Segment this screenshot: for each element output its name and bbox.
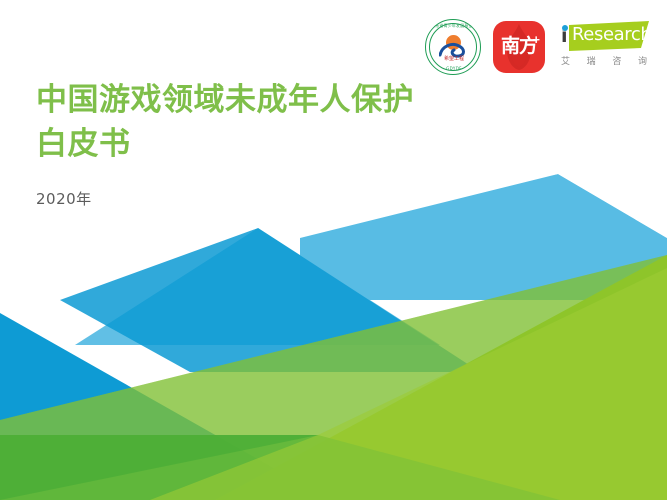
iresearch-cn-char-4: 询	[638, 54, 647, 67]
page-subtitle-year: 2020年	[36, 188, 414, 209]
nanfang-plus-label: +	[532, 33, 540, 46]
iresearch-chinese-name: 艾 瑞 咨 询	[561, 54, 647, 67]
logo-guangdong-youth-foundation: 广东省青少年发展基金会 希望工程 GDYDF	[425, 19, 481, 75]
logo-nanfang-plus: 南方 +	[493, 21, 545, 73]
iresearch-cn-char-2: 瑞	[587, 54, 596, 67]
seal-english-abbr: GDYDF	[426, 67, 481, 71]
logo-row: 广东省青少年发展基金会 希望工程 GDYDF 南方 +	[425, 18, 649, 76]
iresearch-cn-char-1: 艾	[561, 54, 570, 67]
headline-block: 中国游戏领域未成年人保护 白皮书 2020年	[36, 78, 414, 209]
iresearch-cn-char-3: 咨	[612, 54, 621, 67]
seal-ring-text: 广东省青少年发展基金会	[428, 24, 480, 28]
iresearch-word: Research	[572, 26, 651, 44]
seal-icon: 广东省青少年发展基金会 希望工程 GDYDF	[425, 19, 481, 75]
page-title: 中国游戏领域未成年人保护 白皮书	[36, 78, 414, 166]
nanfang-app-icon: 南方 +	[493, 21, 545, 73]
iresearch-wordmark: i Research	[557, 21, 649, 51]
seal-center-text: 希望工程	[426, 57, 481, 62]
report-cover-slide: 广东省青少年发展基金会 希望工程 GDYDF 南方 +	[0, 0, 667, 500]
logo-iresearch: i Research 艾 瑞 咨 询	[557, 21, 649, 73]
iresearch-dot-icon	[562, 25, 568, 31]
